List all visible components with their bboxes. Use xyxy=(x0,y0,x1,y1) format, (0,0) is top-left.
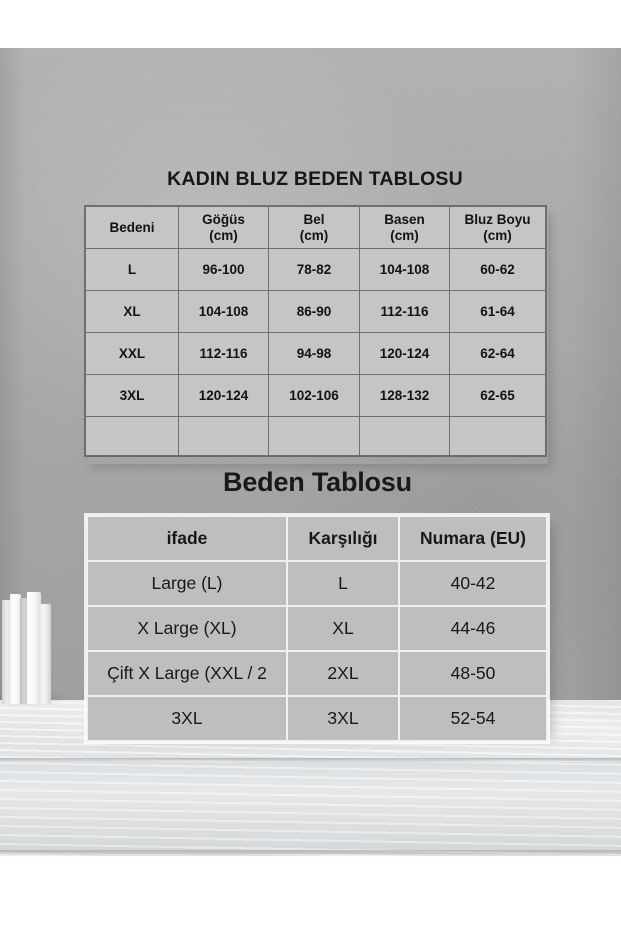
cell-equivalent: L xyxy=(287,561,399,606)
cell-eu-number: 40-42 xyxy=(399,561,547,606)
table-row-header: Bedeni Göğüs (cm) Bel (cm) Basen (cm) B xyxy=(86,207,546,249)
cell-equivalent: 2XL xyxy=(287,651,399,696)
cell-eu-number: 44-46 xyxy=(399,606,547,651)
cell-eu-number: 48-50 xyxy=(399,651,547,696)
cell-eu-number: 52-54 xyxy=(399,696,547,741)
cell-hip: 112-116 xyxy=(360,291,450,333)
cell-size: XL xyxy=(86,291,179,333)
header-cell-karsiligi: Karşılığı xyxy=(287,516,399,561)
cell-waist xyxy=(269,417,360,456)
table-row: Large (L) L 40-42 xyxy=(87,561,547,606)
size-chart-photo: KADIN BLUZ BEDEN TABLOSU Bedeni Göğüs (c… xyxy=(0,0,621,931)
cell-expression: Large (L) xyxy=(87,561,287,606)
header-line-1: Göğüs xyxy=(202,212,245,227)
cell-bust xyxy=(179,417,269,456)
header-cell-numara-eu: Numara (EU) xyxy=(399,516,547,561)
header-cell-basen: Basen (cm) xyxy=(360,207,450,249)
cell-waist: 94-98 xyxy=(269,333,360,375)
cell-equivalent: XL xyxy=(287,606,399,651)
table-row: Çift X Large (XXL / 2 2XL 48-50 xyxy=(87,651,547,696)
cell-hip: 120-124 xyxy=(360,333,450,375)
cell-expression: Çift X Large (XXL / 2 xyxy=(87,651,287,696)
cell-size: L xyxy=(86,249,179,291)
cell-size xyxy=(86,417,179,456)
header-line-1: Bel xyxy=(303,212,324,227)
header-cell-gogus: Göğüs (cm) xyxy=(179,207,269,249)
cell-length: 60-62 xyxy=(450,249,546,291)
header-line-1: Basen xyxy=(384,212,425,227)
table-row: XL 104-108 86-90 112-116 61-64 xyxy=(86,291,546,333)
cell-waist: 86-90 xyxy=(269,291,360,333)
table-row: 3XL 3XL 52-54 xyxy=(87,696,547,741)
header-cell-bluz-boyu: Bluz Boyu (cm) xyxy=(450,207,546,249)
table-row: XXL 112-116 94-98 120-124 62-64 xyxy=(86,333,546,375)
header-line-2: (cm) xyxy=(390,228,419,243)
cell-hip: 104-108 xyxy=(360,249,450,291)
cell-waist: 78-82 xyxy=(269,249,360,291)
cell-size: 3XL xyxy=(86,375,179,417)
size-conversion-table: ifade Karşılığı Numara (EU) Large (L) L … xyxy=(86,515,548,742)
size-conversion-title: Beden Tablosu xyxy=(85,467,550,498)
charts-overlay: KADIN BLUZ BEDEN TABLOSU Bedeni Göğüs (c… xyxy=(0,0,621,931)
table-row: X Large (XL) XL 44-46 xyxy=(87,606,547,651)
header-cell-bedeni: Bedeni xyxy=(86,207,179,249)
cell-length xyxy=(450,417,546,456)
header-cell-ifade: ifade xyxy=(87,516,287,561)
header-line-1: Bluz Boyu xyxy=(465,212,531,227)
header-line-2: (cm) xyxy=(300,228,329,243)
table-row: L 96-100 78-82 104-108 60-62 xyxy=(86,249,546,291)
cell-length: 62-65 xyxy=(450,375,546,417)
cell-expression: 3XL xyxy=(87,696,287,741)
cell-bust: 112-116 xyxy=(179,333,269,375)
table-row: 3XL 120-124 102-106 128-132 62-65 xyxy=(86,375,546,417)
cell-waist: 102-106 xyxy=(269,375,360,417)
cell-bust: 120-124 xyxy=(179,375,269,417)
cell-length: 61-64 xyxy=(450,291,546,333)
cell-length: 62-64 xyxy=(450,333,546,375)
cell-bust: 104-108 xyxy=(179,291,269,333)
cell-expression: X Large (XL) xyxy=(87,606,287,651)
header-line-2: (cm) xyxy=(209,228,238,243)
cell-hip xyxy=(360,417,450,456)
header-cell-bel: Bel (cm) xyxy=(269,207,360,249)
cell-size: XXL xyxy=(86,333,179,375)
table-row-empty xyxy=(86,417,546,456)
blouse-size-chart-title: KADIN BLUZ BEDEN TABLOSU xyxy=(85,168,545,191)
cell-hip: 128-132 xyxy=(360,375,450,417)
header-line-2: (cm) xyxy=(483,228,512,243)
table-row-header: ifade Karşılığı Numara (EU) xyxy=(87,516,547,561)
cell-bust: 96-100 xyxy=(179,249,269,291)
cell-equivalent: 3XL xyxy=(287,696,399,741)
blouse-size-table: Bedeni Göğüs (cm) Bel (cm) Basen (cm) B xyxy=(85,206,546,456)
